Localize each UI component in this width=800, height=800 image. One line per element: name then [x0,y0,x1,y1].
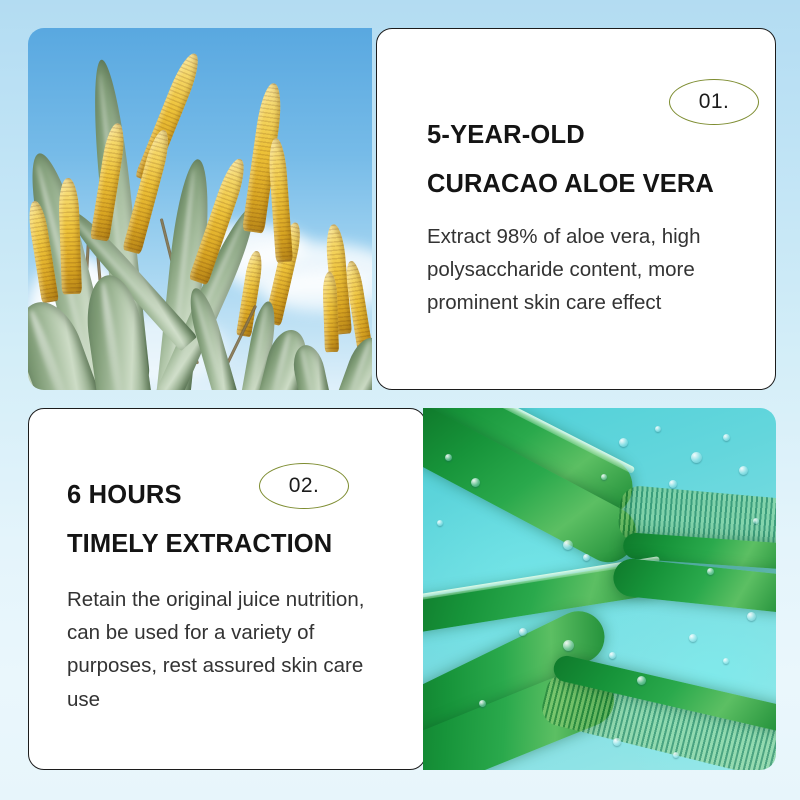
water-droplet [723,658,729,664]
product-feature-graphic: 01. 5-YEAR-OLD CURACAO ALOE VERA Extract… [0,0,800,800]
water-droplet [637,676,646,685]
water-droplet [691,452,702,463]
feature-heading-line2: TIMELY EXTRACTION [67,520,397,569]
water-droplet [669,480,677,488]
feature-body-text: Extract 98% of aloe vera, high polysacch… [427,220,749,320]
feature-panel-01: 01. 5-YEAR-OLD CURACAO ALOE VERA Extract… [28,28,776,390]
water-droplet [689,634,697,642]
water-droplet [583,554,590,561]
aloe-flower-spike [58,178,82,295]
water-droplet [747,612,756,621]
feature-heading-line1: 5-YEAR-OLD [427,111,749,160]
feature-body-text: Retain the original juice nutrition, can… [67,583,397,716]
water-droplet [437,520,443,526]
water-droplet [479,700,486,707]
feature-copy-block-02: 6 HOURS TIMELY EXTRACTION Retain the ori… [67,471,397,716]
water-droplet [563,540,573,550]
water-droplet [655,426,661,432]
feature-text-card-01: 01. 5-YEAR-OLD CURACAO ALOE VERA Extract… [376,28,776,390]
water-droplet [739,466,748,475]
feature-heading-line2: CURACAO ALOE VERA [427,160,749,209]
aloe-leaf [335,333,372,390]
water-droplet [707,568,714,575]
aloe-leaf-closeup-photo [423,408,776,770]
water-droplet [601,474,607,480]
feature-heading-line1: 6 HOURS [67,471,397,520]
water-droplet [563,640,574,651]
water-droplet [519,628,527,636]
water-droplet [609,652,616,659]
water-droplet [673,752,679,758]
water-droplet [613,738,621,746]
water-droplet [471,478,480,487]
aloe-plant-photo [28,28,372,390]
water-droplet [619,438,628,447]
feature-copy-block-01: 5-YEAR-OLD CURACAO ALOE VERA Extract 98%… [427,111,749,320]
water-droplet [723,434,730,441]
water-droplet [753,518,759,524]
feature-text-card-02: 02. 6 HOURS TIMELY EXTRACTION Retain the… [28,408,426,770]
water-droplet [445,454,452,461]
feature-panel-02: 02. 6 HOURS TIMELY EXTRACTION Retain the… [28,408,776,770]
